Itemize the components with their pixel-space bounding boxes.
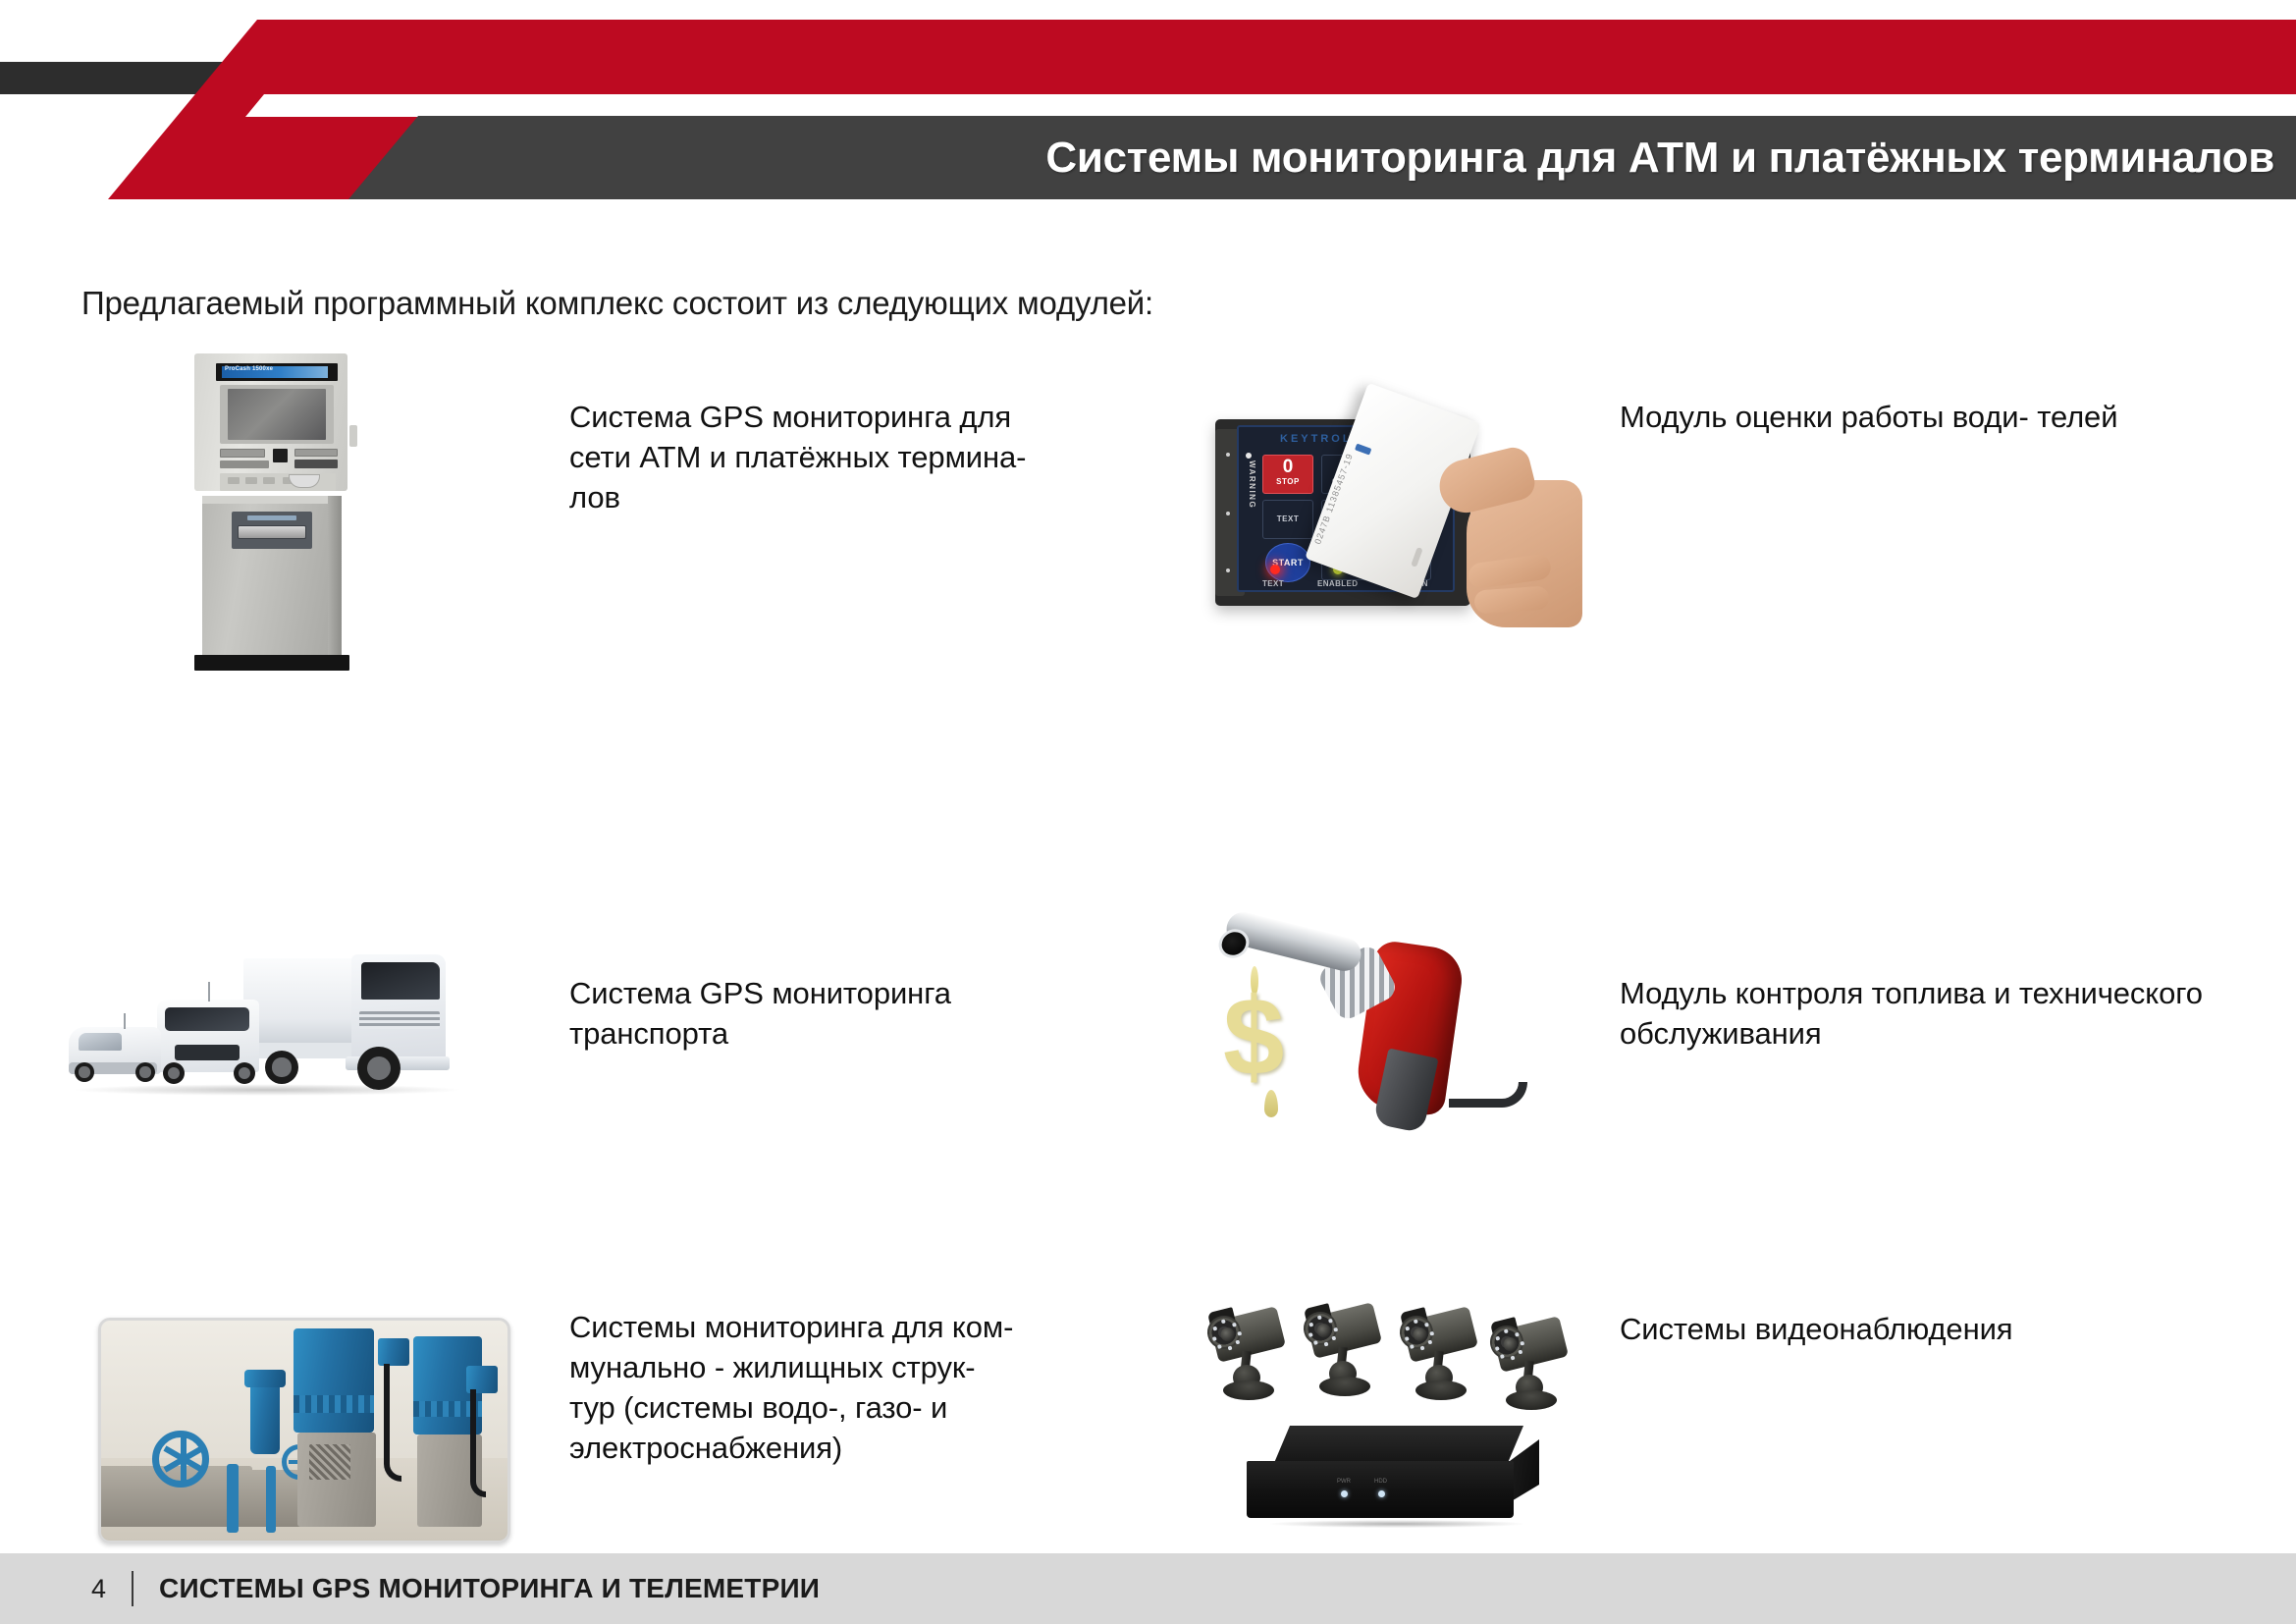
card-slot-hole [1411, 547, 1422, 568]
atm-side-slot-lower [294, 460, 338, 468]
vehicles-shadow [71, 1084, 463, 1096]
caption-line: мунально - жилищных струк- [569, 1348, 1139, 1388]
camera-mount-base [1415, 1380, 1467, 1400]
atm-side-panel [328, 496, 342, 658]
atm-dispenser-module [232, 512, 312, 549]
camera-mount-base [1223, 1380, 1274, 1400]
driver-warning-label: WARNING [1245, 460, 1256, 559]
module-caption-atm-gps: Система GPS мониторинга для сети ATM и п… [569, 398, 1119, 518]
module-caption-fuel-control: Модуль контроля топлива и технического о… [1620, 974, 2209, 1055]
truck-front-wheel [357, 1047, 400, 1090]
footer-divider [132, 1571, 133, 1606]
cctv-camera-3 [1400, 1310, 1482, 1426]
caption-line: сети ATM и платёжных термина- [569, 438, 1119, 478]
card-chip-icon [1355, 444, 1371, 456]
fuel-nozzle-illustration: $ [1207, 915, 1531, 1161]
cctv-camera-2 [1304, 1306, 1386, 1422]
car-antenna [124, 1013, 126, 1029]
caption-line: электроснабжения) [569, 1429, 1139, 1469]
truck-rear-wheel [265, 1051, 298, 1084]
pipe-flange [266, 1466, 276, 1533]
pump-motor-1-fins [294, 1395, 374, 1413]
caption-line: лов [569, 478, 1119, 518]
atm-lower-body [202, 496, 342, 658]
module-row-3: Системы мониторинга для ком- мунально - … [0, 1229, 2296, 1583]
atm-side-knob [349, 425, 357, 447]
footer-page-number: 4 [91, 1574, 106, 1604]
modules-grid: ProCash 1500xe [0, 349, 2296, 1583]
driver-id-reader-photo: KEYTROLLER WARNING 0 STOP 1 CLEAR [1207, 398, 1590, 663]
van-grille [175, 1045, 240, 1060]
valve-actuator-cap [244, 1370, 286, 1387]
truck-chassis-skirt [243, 1043, 361, 1058]
module-caption-transport-gps: Система GPS мониторинга транспорта [569, 974, 1139, 1055]
car-rear-wheel [75, 1062, 94, 1082]
pipe-flange [227, 1464, 239, 1533]
truck-windshield [361, 962, 440, 1000]
driver-id-illustration: KEYTROLLER WARNING 0 STOP 1 CLEAR [1207, 398, 1590, 663]
dvr-power-led-icon [1341, 1490, 1348, 1497]
cctv-kit-photo: PWR HDD [1207, 1310, 1600, 1555]
caption-line: Модуль оценки работы води- [1620, 400, 2029, 434]
power-cable-2 [470, 1389, 486, 1497]
junction-box-1 [378, 1338, 409, 1366]
header-white-gap [245, 94, 2296, 117]
fuel-nozzle-photo: $ [1207, 915, 1531, 1161]
atm-slot-row [220, 449, 338, 470]
camera-mount-base [1319, 1377, 1370, 1396]
footer-title: СИСТЕМЫ GPS МОНИТОРИНГА И ТЕЛЕМЕТРИИ [159, 1573, 820, 1604]
atm-sensor-box [273, 449, 288, 462]
text-led-icon [1270, 565, 1280, 574]
camera-lens [1219, 1326, 1236, 1343]
dollar-sign-icon: $ [1223, 982, 1284, 1092]
slide-header: Системы мониторинга для АТМ и платёжных … [0, 0, 2296, 226]
camera-lens [1315, 1323, 1332, 1339]
camera-mount-base [1506, 1390, 1557, 1410]
dvr-recorder-unit: PWR HDD [1247, 1426, 1541, 1532]
driver-button-stop[interactable]: 0 STOP [1262, 455, 1313, 494]
valve-actuator [250, 1378, 280, 1454]
atm-illustration: ProCash 1500xe [185, 349, 361, 673]
atm-upper-housing: ProCash 1500xe [194, 353, 347, 491]
module-caption-utilities: Системы мониторинга для ком- мунально - … [569, 1308, 1139, 1469]
led-label: ENABLED [1317, 579, 1358, 588]
atm-card-slot [220, 449, 265, 458]
van-windshield [165, 1007, 249, 1031]
dvr-led-label: HDD [1374, 1479, 1387, 1485]
caption-line: телей [2037, 400, 2117, 434]
module-caption-driver-rating: Модуль оценки работы води- телей [1620, 398, 2189, 438]
atm-base-plinth [194, 655, 349, 671]
cctv-camera-1 [1207, 1310, 1290, 1426]
pump-vent-mesh [309, 1444, 350, 1480]
header-title-bar: Системы мониторинга для АТМ и платёжных … [348, 116, 2296, 199]
hand-holding-card [1435, 441, 1582, 637]
van-front-wheel [234, 1062, 255, 1084]
led-label: TEXT [1262, 579, 1284, 588]
camera-lens [1502, 1336, 1519, 1353]
module-row-1: ProCash 1500xe [0, 349, 2296, 761]
atm-body-top-edge [202, 496, 342, 504]
warning-led-icon [1246, 453, 1252, 459]
module-caption-video-surveillance: Системы видеонаблюдения [1620, 1310, 2209, 1350]
atm-brand-label: ProCash 1500xe [225, 366, 273, 372]
pumps-illustration [98, 1318, 510, 1543]
dvr-top-surface [1274, 1426, 1523, 1463]
dvr-shadow [1270, 1520, 1523, 1528]
slide-footer: 4 СИСТЕМЫ GPS МОНИТОРИНГА И ТЕЛЕМЕТРИИ [0, 1553, 2296, 1624]
dvr-front-face: PWR HDD [1247, 1461, 1514, 1518]
atm-machine-photo: ProCash 1500xe [185, 349, 361, 673]
caption-line: Система GPS мониторинга [569, 974, 1139, 1014]
valve-handwheel [152, 1431, 209, 1488]
water-pumps-photo [98, 1318, 510, 1543]
caption-line: Системы мониторинга для ком- [569, 1308, 1139, 1348]
screw-icon [1226, 453, 1230, 457]
car-front-wheel [135, 1062, 155, 1082]
van-body [157, 1000, 259, 1072]
atm-dispenser-label [247, 515, 296, 520]
module-row-2: Система GPS мониторинга транспорта $ [0, 797, 2296, 1190]
atm-screen-bezel [220, 385, 334, 444]
camera-lens [1412, 1326, 1428, 1343]
intro-text: Предлагаемый программный комплекс состои… [81, 285, 1153, 322]
atm-receipt-slot [220, 460, 269, 468]
dvr-led-label: PWR [1337, 1479, 1351, 1485]
cctv-camera-4 [1490, 1320, 1573, 1435]
caption-line: Модуль контроля топлива и [1620, 976, 2010, 1010]
driver-button-text[interactable]: TEXT [1262, 500, 1313, 539]
pump-motor-1 [294, 1328, 374, 1433]
truck-cab [351, 954, 446, 1060]
car-window [79, 1033, 122, 1051]
van-rear-wheel [163, 1062, 185, 1084]
vehicles-illustration [51, 937, 512, 1133]
atm-display-screen [228, 389, 326, 440]
power-cable-1 [384, 1364, 401, 1482]
caption-line: Система GPS мониторинга для [569, 398, 1119, 438]
page-title: Системы мониторинга для АТМ и платёжных … [1045, 134, 2274, 183]
truck-cargo-box [243, 958, 367, 1043]
van-antenna [208, 982, 210, 1001]
dvr-hdd-led-icon [1378, 1490, 1385, 1497]
caption-line: Системы видеонаблюдения [1620, 1312, 2013, 1346]
slide: Системы мониторинга для АТМ и платёжных … [0, 0, 2296, 1624]
dvr-side-surface [1510, 1439, 1539, 1502]
atm-brand-banner: ProCash 1500xe [216, 363, 338, 381]
screw-icon [1226, 568, 1230, 572]
atm-side-slot-upper [294, 449, 338, 457]
atm-dispenser-lip [238, 525, 306, 539]
fuel-hose [1449, 1082, 1527, 1108]
caption-line: транспорта [569, 1014, 1139, 1055]
caption-line: тур (системы водо-, газо- и [569, 1388, 1139, 1429]
cctv-illustration: PWR HDD [1207, 1310, 1600, 1555]
vehicle-fleet-photo [51, 937, 512, 1133]
screw-icon [1226, 512, 1230, 515]
truck-grille [359, 1011, 440, 1029]
